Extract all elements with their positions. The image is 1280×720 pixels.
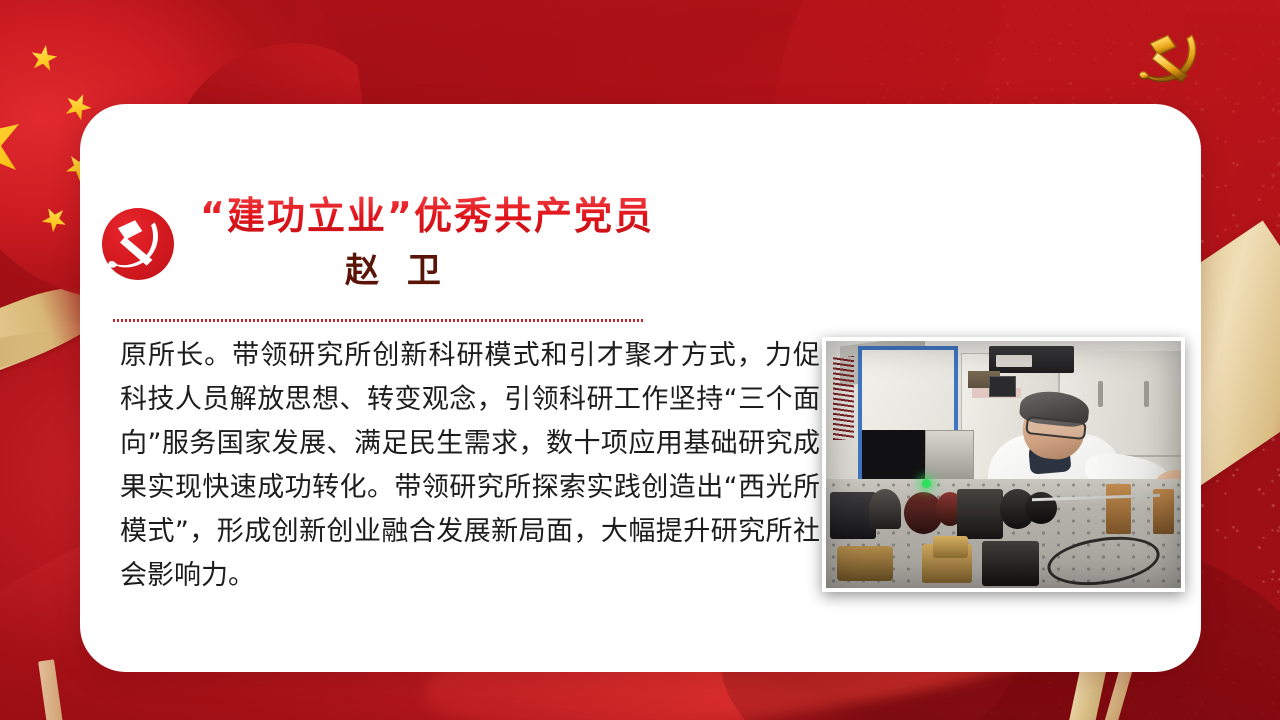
photo-small-monitor (989, 376, 1016, 398)
header-row: “建功立业”优秀共产党员 赵 卫 (102, 196, 654, 292)
photo-instrument-panel (996, 355, 1032, 367)
photo-optic-10 (982, 541, 1039, 585)
photo-optic-7 (1025, 492, 1057, 524)
photo-optic-2 (869, 489, 901, 529)
photo-cabinet-handle-2 (1144, 381, 1149, 407)
content-card: “建功立业”优秀共产党员 赵 卫 原所长。带领研究所创新科研模式和引才聚才方式，… (80, 104, 1201, 672)
title-block: “建功立业”优秀共产党员 赵 卫 (200, 196, 654, 292)
dotted-divider (113, 319, 643, 322)
biography-text: 原所长。带领研究所创新科研模式和引才聚才方式，力促科技人员解放思想、转变观念，引… (120, 334, 820, 598)
slide-root: “建功立业”优秀共产党员 赵 卫 原所长。带领研究所创新科研模式和引才聚才方式，… (0, 0, 1280, 720)
photo-wires (833, 356, 854, 440)
ccp-hammer-sickle-icon (1128, 26, 1214, 98)
biography-paragraph: 原所长。带领研究所创新科研模式和引才聚才方式，力促科技人员解放思想、转变观念，引… (120, 334, 820, 598)
ccp-emblem-badge-icon (102, 208, 174, 280)
photo-optic-8 (837, 546, 894, 581)
person-name: 赵 卫 (200, 243, 654, 292)
portrait-photo (822, 337, 1185, 592)
photo-scene (826, 341, 1181, 588)
photo-optic-5 (957, 489, 1003, 538)
photo-optic-12 (1106, 484, 1131, 533)
photo-optic-11 (933, 536, 969, 558)
page-title: “建功立业”优秀共产党员 (200, 196, 654, 237)
